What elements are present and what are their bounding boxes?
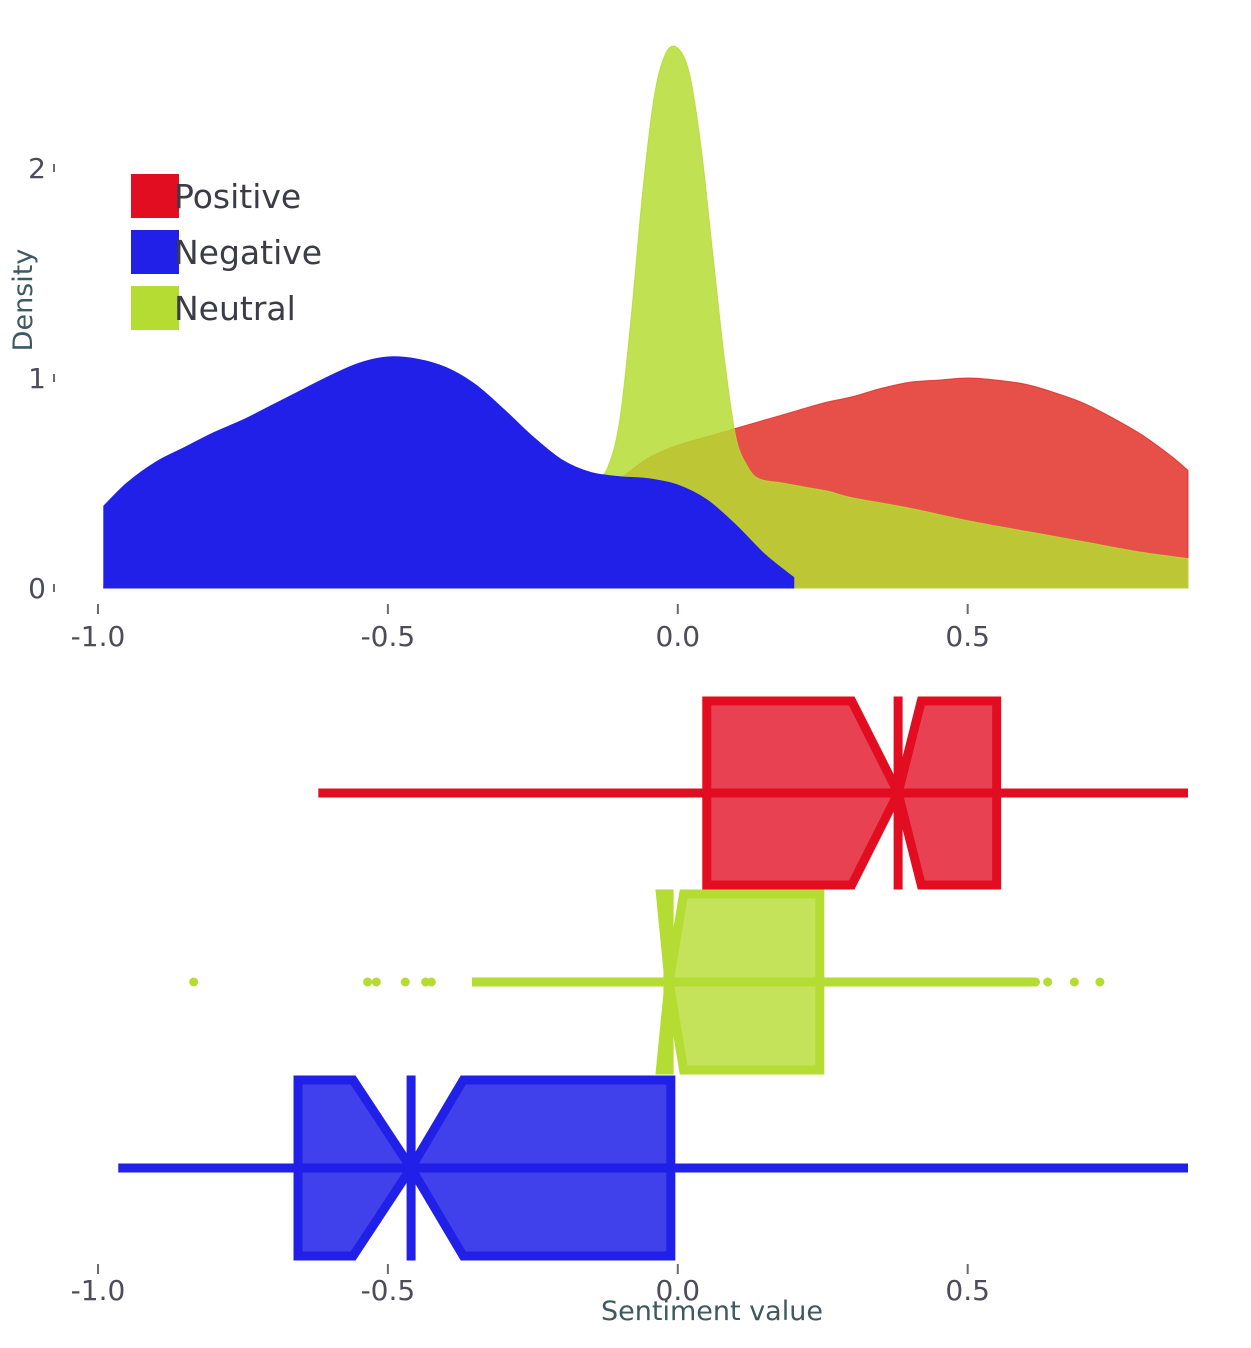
boxplot-xtick-label-0: -1.0 xyxy=(71,1274,126,1307)
box-negative xyxy=(298,1080,671,1256)
outlier-point-neutral-6 xyxy=(1031,978,1040,987)
density-xtick-label-3: 0.5 xyxy=(945,620,990,653)
legend-label-positive: Positive xyxy=(174,177,301,216)
density-xtick-label-2: 0.0 xyxy=(656,620,701,653)
sentiment-distribution-figure: 012 Density -1.0-0.50.00.5 PositiveNegat… xyxy=(0,0,1251,1348)
outlier-point-neutral-9 xyxy=(1095,978,1104,987)
outlier-point-neutral-7 xyxy=(1043,978,1052,987)
boxplot-xtick-label-1: -0.5 xyxy=(361,1274,416,1307)
outlier-point-neutral-8 xyxy=(1070,978,1079,987)
box-neutral xyxy=(660,894,819,1070)
boxplot-negative xyxy=(118,1076,1188,1261)
outlier-point-neutral-5 xyxy=(427,978,436,987)
box-positive xyxy=(707,701,997,885)
density-y-axis: 012 xyxy=(28,152,54,605)
density-xtick-label-1: -0.5 xyxy=(361,620,416,653)
legend-label-negative: Negative xyxy=(174,233,322,272)
legend-swatch-negative xyxy=(131,230,179,274)
boxplot-x-axis: -1.0-0.50.00.5 xyxy=(71,1264,990,1307)
density-ytick-label-1: 1 xyxy=(28,362,46,395)
boxplot-panel xyxy=(118,697,1188,1261)
outlier-point-neutral-0 xyxy=(189,978,198,987)
density-axis-title: Density xyxy=(8,249,39,352)
legend-swatch-positive xyxy=(131,174,179,218)
chart-canvas: 012 Density -1.0-0.50.00.5 PositiveNegat… xyxy=(0,0,1251,1348)
outlier-point-neutral-3 xyxy=(401,978,410,987)
density-ytick-label-0: 0 xyxy=(28,572,46,605)
boxplot-neutral xyxy=(189,890,1104,1075)
density-ytick-label-2: 2 xyxy=(28,152,46,185)
boxplot-xtick-label-3: 0.5 xyxy=(945,1274,990,1307)
boxplot-positive xyxy=(318,697,1188,890)
boxplot-axis-title: Sentiment value xyxy=(601,1296,823,1327)
legend-swatch-neutral xyxy=(131,286,179,330)
legend: PositiveNegativeNeutral xyxy=(131,174,322,330)
density-x-axis: -1.0-0.50.00.5 xyxy=(71,604,990,653)
legend-label-neutral: Neutral xyxy=(174,289,296,328)
outlier-point-neutral-1 xyxy=(363,978,372,987)
outlier-point-neutral-2 xyxy=(372,978,381,987)
density-xtick-label-0: -1.0 xyxy=(71,620,126,653)
